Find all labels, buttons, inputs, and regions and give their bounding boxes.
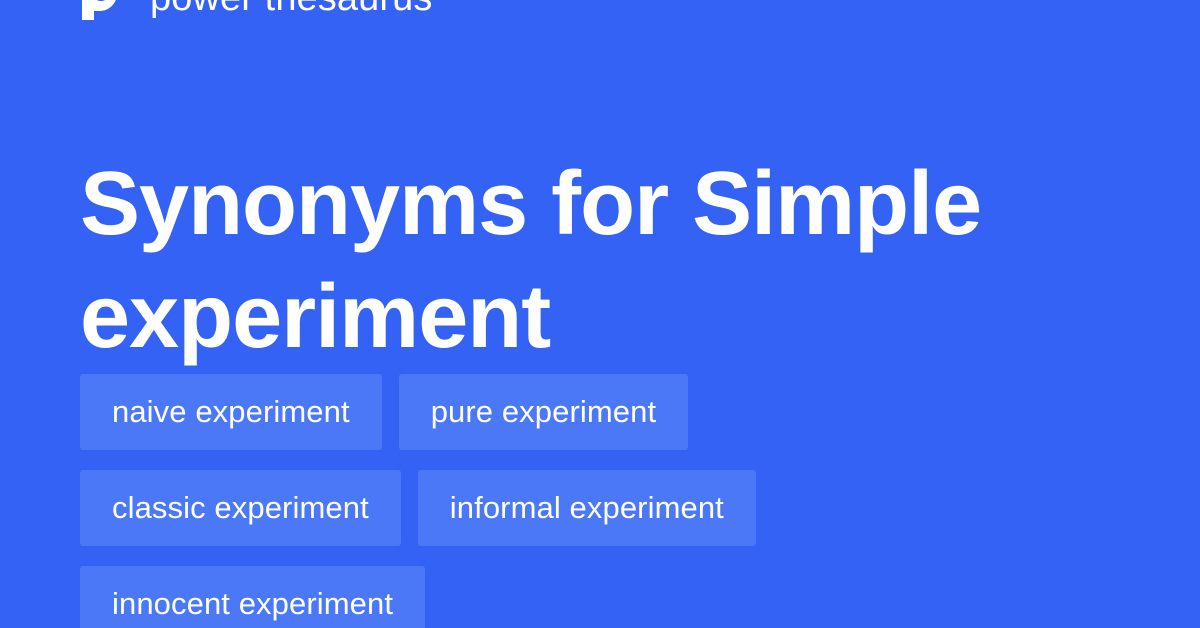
synonym-chip-row: naive experiment pure experiment [80, 374, 1170, 450]
synonym-chip[interactable]: innocent experiment [80, 566, 425, 628]
synonym-chip-row: classic experiment informal experiment [80, 470, 1170, 546]
page-title: Synonyms for Simple experiment [80, 148, 1080, 374]
page-title-line-2: experiment [80, 261, 1080, 374]
brand-name: power thesaurus [150, 0, 432, 20]
share-card: power thesaurus Synonyms for Simple expe… [0, 0, 1200, 628]
synonym-chip[interactable]: naive experiment [80, 374, 382, 450]
page-title-line-1: Synonyms for Simple [80, 148, 1080, 261]
synonym-chip-list: naive experiment pure experiment classic… [80, 374, 1170, 628]
synonym-chip[interactable]: informal experiment [418, 470, 756, 546]
power-thesaurus-p-logo-icon [80, 0, 124, 20]
synonym-chip[interactable]: pure experiment [399, 374, 689, 450]
synonym-chip[interactable]: classic experiment [80, 470, 401, 546]
brand-header[interactable]: power thesaurus [80, 0, 432, 24]
synonym-chip-row: innocent experiment [80, 566, 1170, 628]
